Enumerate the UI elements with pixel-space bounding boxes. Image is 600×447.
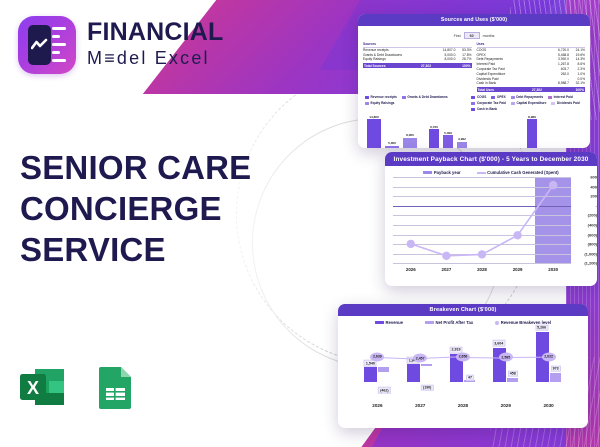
breakeven-x-axis: 20262027202820292030 <box>356 403 570 408</box>
microsoft-excel-icon: X <box>18 362 68 412</box>
legend-item: Grants & Debt Drawdowns <box>402 95 448 99</box>
uses-total-label: Total Uses <box>478 88 494 92</box>
brand-name-secondary: M≡del Excel <box>87 47 224 70</box>
net-profit-bar <box>421 364 432 366</box>
x-axis-tick: 2028 <box>477 267 487 272</box>
breakeven-data-point: 2,457 <box>413 354 427 363</box>
legend-cumulative-cash: Cumulative Cash Generated (Spent) <box>477 170 559 175</box>
y-axis-tick: - <box>596 203 597 208</box>
breakeven-legend: Revenue Net Profit After Tax Revenue Bre… <box>338 320 588 325</box>
legend-item: Debt Repayments <box>511 95 543 99</box>
x-axis-tick: 2030 <box>548 267 558 272</box>
legend-item: Equity Raisings <box>365 101 394 105</box>
bar-value-label: 8,989 <box>528 115 536 119</box>
bar-item: 8,000 <box>403 133 417 148</box>
bar <box>457 142 467 148</box>
net-profit-value-label: 973 <box>551 365 561 372</box>
net-profit-value-label: (462) <box>378 387 390 394</box>
sources-table: Sources Revenue receipts14,807.053.3%Gra… <box>363 42 472 92</box>
table-row: Capital Expenditure262.01.0% <box>477 71 586 76</box>
x-axis-tick: 2030 <box>543 403 553 408</box>
brand-logo: FINANCIAL M≡del Excel <box>18 16 224 74</box>
cover-canvas: FINANCIAL M≡del Excel SENIOR CARE CONCIE… <box>0 0 600 447</box>
sources-total-pct: 100% <box>455 64 471 68</box>
x-axis-tick: 2027 <box>415 403 425 408</box>
sources-total-value: 27,302 <box>409 64 431 68</box>
x-axis-tick: 2029 <box>501 403 511 408</box>
period-suffix: months <box>483 34 495 38</box>
table-row: OPEX5,468.819.6% <box>477 52 586 57</box>
x-axis-tick: 2027 <box>442 267 452 272</box>
legend-item: Revenue receipts <box>365 95 397 99</box>
table-row: COGS6,720.024.1% <box>477 48 586 53</box>
period-prefix: First <box>454 34 461 38</box>
breakeven-data-point: 2,585 <box>499 353 513 362</box>
bar-value-label: 6,720 <box>430 125 438 129</box>
sources-uses-period-selector[interactable]: First 60 months <box>363 32 585 39</box>
legend-item: Capital Expenditure <box>511 101 546 105</box>
payback-legend: Payback year Cumulative Cash Generated (… <box>385 170 597 175</box>
bar-group <box>364 367 389 382</box>
table-row: Revenue receipts14,807.053.3% <box>363 48 472 53</box>
bar <box>429 129 439 148</box>
bar <box>385 146 399 148</box>
bar <box>403 138 417 148</box>
table-row: Interest Paid1,267.88.6% <box>477 62 586 67</box>
revenue-bar <box>407 364 420 382</box>
bar-value-label: 5,469 <box>444 131 452 135</box>
period-value[interactable]: 60 <box>464 32 480 39</box>
y-axis-tick: (600) <box>588 232 597 237</box>
wave-chart-icon <box>31 38 48 52</box>
sources-total-label: Total Sources <box>364 64 386 68</box>
legend-item: OPEX <box>491 95 505 99</box>
y-axis-tick: 400 <box>590 184 597 189</box>
gridline <box>393 263 571 264</box>
bar-item: 3,992 <box>457 137 467 148</box>
bar <box>527 119 537 148</box>
brand-name-primary: FINANCIAL <box>87 20 224 45</box>
x-axis-tick: 2026 <box>372 403 382 408</box>
revenue-bar <box>364 367 377 382</box>
google-sheets-icon <box>90 362 140 412</box>
net-profit-bar <box>507 378 518 382</box>
y-axis-tick: (1,200) <box>584 261 597 266</box>
y-axis-tick: (1,000) <box>584 251 597 256</box>
bar-item: 5,469 <box>443 131 453 148</box>
card-breakeven[interactable]: Breakeven Chart ($'000) Revenue Net Prof… <box>338 304 588 428</box>
x-axis-tick: 2029 <box>513 267 523 272</box>
bar <box>443 135 453 148</box>
breakeven-data-point: 2,656 <box>456 352 470 361</box>
payback-plot-area: 600400200-(200)(400)(600)(800)(1,000)(1,… <box>393 177 571 263</box>
page-title: SENIOR CARE CONCIERGE SERVICE <box>20 148 290 271</box>
uses-table: Uses COGS6,720.024.1%OPEX5,468.819.6%Deb… <box>477 42 586 92</box>
data-point <box>442 252 450 260</box>
legend-item: Interest Paid <box>548 95 573 99</box>
legend-item: COGS <box>471 95 486 99</box>
uses-chart-legend: COGSOPEXDebt RepaymentsInterest PaidCorp… <box>471 95 583 111</box>
sources-chart-legend: Revenue receiptsGrants & Debt DrawdownsE… <box>365 95 461 105</box>
document-lines-icon <box>52 27 67 63</box>
y-axis-tick: (800) <box>588 242 597 247</box>
table-row: Grants & Debt Drawdowns5,000.017.8% <box>363 52 472 57</box>
y-axis-tick: (200) <box>588 213 597 218</box>
legend-item: Dividends Paid <box>551 101 579 105</box>
net-profit-bar <box>378 367 389 371</box>
payback-line-series <box>393 177 571 263</box>
svg-text:X: X <box>27 378 39 398</box>
bar-item: 14,800 <box>367 115 381 148</box>
bar-item: 8,989 <box>527 115 537 148</box>
bar <box>367 119 381 148</box>
revenue-value-label: 5,266 <box>535 324 548 331</box>
breakeven-data-point: 2,639 <box>370 352 384 361</box>
legend-revenue: Revenue <box>375 320 403 325</box>
uses-total-pct: 100% <box>568 88 584 92</box>
bar-value-label: 5,000 <box>388 141 396 145</box>
bar-group <box>407 364 432 382</box>
net-profit-value-label: 47 <box>466 374 474 381</box>
file-format-icons: X <box>18 362 140 412</box>
breakeven-plot-area: 1,540(462)1,848(190)2,919473,6044585,266… <box>356 327 570 397</box>
payback-y-axis: 600400200-(200)(400)(600)(800)(1,000)(1,… <box>571 177 597 263</box>
bar-value-label: 14,800 <box>369 115 378 119</box>
uses-bar-chart: 6,7205,4693,9921,268604262-8,989 <box>429 113 537 148</box>
y-axis-tick: 600 <box>590 175 597 180</box>
table-row: Corporate Tax Paid603.72.3% <box>477 67 586 72</box>
legend-payback-year: Payback year <box>423 170 460 175</box>
bar-item: 5,000 <box>385 141 399 148</box>
x-axis-tick: 2028 <box>458 403 468 408</box>
data-point <box>407 240 415 248</box>
bar-value-label: 8,000 <box>406 133 414 137</box>
bar-item: 6,720 <box>429 125 439 148</box>
sources-total-row: Total Sources 27,302 100% <box>363 63 472 69</box>
uses-total-value: 27,302 <box>520 88 542 92</box>
payback-x-axis: 20262027202820292030 <box>393 267 571 272</box>
x-axis-tick: 2026 <box>406 267 416 272</box>
card-investment-payback[interactable]: Investment Payback Chart ($'000) - 5 Yea… <box>385 152 597 286</box>
legend-net-profit-after-tax: Net Profit After Tax <box>425 320 473 325</box>
data-point <box>478 250 486 258</box>
card-title-breakeven: Breakeven Chart ($'000) <box>338 304 588 316</box>
table-row: Dividends Paid-0.0% <box>477 76 586 81</box>
breakeven-data-point: 2,622 <box>542 352 556 361</box>
net-profit-value-label: (190) <box>421 384 433 391</box>
table-row: Equity Raisings8,000.028.7% <box>363 57 472 62</box>
data-point <box>513 231 521 239</box>
net-profit-bar <box>550 373 561 382</box>
financial-model-logo-icon <box>18 16 76 74</box>
revenue-value-label: 3,604 <box>492 340 505 347</box>
bar-value-label: 3,992 <box>458 137 466 141</box>
net-profit-value-label: 458 <box>508 370 518 377</box>
legend-item: Cash in Bank <box>471 107 497 111</box>
card-title-sources-uses: Sources and Uses ($'000) <box>358 14 590 26</box>
sources-bar-chart: 14,8005,0008,000 <box>367 113 417 148</box>
y-axis-tick: (400) <box>588 222 597 227</box>
table-row: Debt Repayments3,992.014.3% <box>477 57 586 62</box>
card-title-payback: Investment Payback Chart ($'000) - 5 Yea… <box>385 152 597 166</box>
table-row: Cash in Bank8,988.732.1% <box>477 81 586 86</box>
data-point <box>549 181 557 189</box>
legend-item: Corporate Tax Paid <box>471 101 506 105</box>
card-sources-and-uses[interactable]: Sources and Uses ($'000) First 60 months… <box>358 14 590 148</box>
y-axis-tick: 200 <box>590 194 597 199</box>
